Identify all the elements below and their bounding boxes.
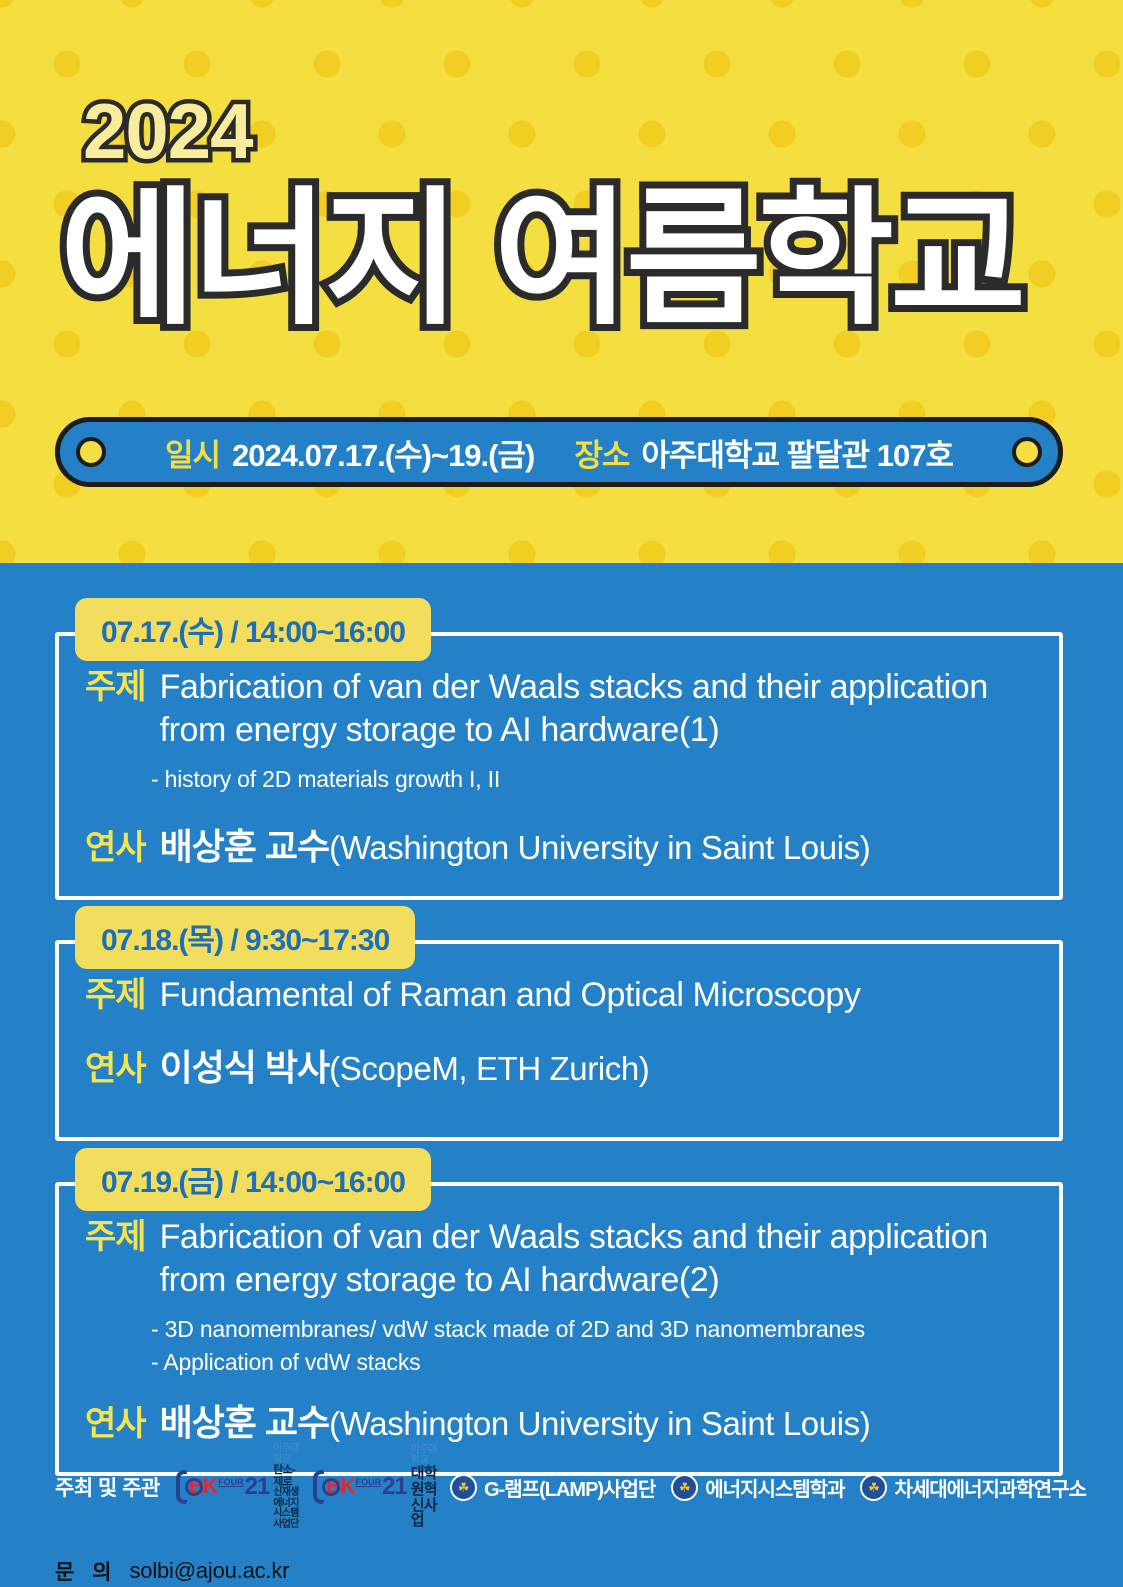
bk21-four-text: FOUR bbox=[218, 1478, 244, 1487]
topic-label: 주제 bbox=[85, 1216, 146, 1259]
host-label: 주최 및 주관 bbox=[55, 1472, 160, 1502]
speaker-row: 연사 배상훈 교수 (Washington University in Sain… bbox=[85, 818, 1033, 870]
org-lamp: ☘ G-램프(LAMP)사업단 bbox=[450, 1473, 655, 1502]
topic-text: Fundamental of Raman and Optical Microsc… bbox=[160, 974, 861, 1017]
bk21-head-icon bbox=[313, 1470, 325, 1504]
topic-row: 주제 Fabrication of van der Waals stacks a… bbox=[85, 666, 1033, 751]
bk21-line2: 대학원혁신사업 bbox=[411, 1466, 440, 1529]
footer: 주최 및 주관 BK FOUR 21 아주대학교 탄소-제로 신재생에너지시스템… bbox=[55, 1444, 1085, 1586]
bk21-univ: 아주대학교 bbox=[273, 1444, 302, 1465]
speaker-label: 연사 bbox=[85, 1403, 146, 1446]
contact-label: 문 의 bbox=[55, 1556, 117, 1586]
contact-row: 문 의 solbi@ajou.ac.kr bbox=[55, 1556, 1085, 1586]
ajou-emblem-icon: ☘ bbox=[860, 1474, 887, 1501]
bk21-four-text: FOUR bbox=[356, 1478, 382, 1487]
place-value: 아주대학교 팔달관 107호 bbox=[641, 430, 953, 475]
speaker-affiliation: (Washington University in Saint Louis) bbox=[329, 829, 870, 867]
speaker-row: 연사 배상훈 교수 (Washington University in Sain… bbox=[85, 1394, 1033, 1446]
speaker-label: 연사 bbox=[85, 1048, 146, 1091]
session-panel: 주제 Fundamental of Raman and Optical Micr… bbox=[55, 940, 1063, 1141]
session-panel: 주제 Fabrication of van der Waals stacks a… bbox=[55, 632, 1063, 900]
date-place-banner: 일시 2024.07.17.(수)~19.(금) 장소 아주대학교 팔달관 10… bbox=[55, 417, 1063, 487]
speaker-name: 배상훈 교수 bbox=[160, 1394, 330, 1446]
page-title: 에너지 여름학교 bbox=[60, 180, 1022, 340]
bk21-line3: 신재생에너지시스템사업단 bbox=[273, 1488, 302, 1530]
poster-root: 2024 에너지 여름학교 일시 2024.07.17.(수)~19.(금) 장… bbox=[0, 0, 1123, 1587]
org-next-gen-energy: ☘ 차세대에너지과학연구소 bbox=[860, 1473, 1085, 1502]
topic-bullets: - history of 2D materials growth I, II bbox=[151, 763, 1033, 796]
org-name: G-램프(LAMP)사업단 bbox=[484, 1473, 655, 1502]
speaker-name: 이성식 박사 bbox=[160, 1039, 330, 1091]
speaker-label: 연사 bbox=[85, 827, 146, 870]
session-date-tag: 07.17.(수) / 14:00~16:00 bbox=[75, 598, 431, 661]
date-label: 일시 bbox=[165, 430, 220, 475]
topic-label: 주제 bbox=[85, 974, 146, 1017]
bk21-caption-1: 아주대학교 탄소-제로 신재생에너지시스템사업단 bbox=[273, 1444, 302, 1530]
bullet-item: - history of 2D materials growth I, II bbox=[151, 763, 1033, 796]
speaker-affiliation: (ScopeM, ETH Zurich) bbox=[329, 1050, 649, 1088]
org-name: 에너지시스템학과 bbox=[705, 1473, 844, 1502]
bk21-logo-2: BK FOUR 21 아주대학교 대학원혁신사업 bbox=[313, 1445, 441, 1529]
bk21-num-text: 21 bbox=[382, 1473, 407, 1501]
org-name: 차세대에너지과학연구소 bbox=[894, 1473, 1085, 1502]
topic-text: Fabrication of van der Waals stacks and … bbox=[160, 1216, 1033, 1301]
contact-email[interactable]: solbi@ajou.ac.kr bbox=[129, 1558, 289, 1584]
bk21-univ: 아주대학교 bbox=[411, 1445, 440, 1466]
topic-text: Fabrication of van der Waals stacks and … bbox=[160, 666, 1033, 751]
ajou-emblem-icon: ☘ bbox=[671, 1474, 698, 1501]
speaker-name: 배상훈 교수 bbox=[160, 818, 330, 870]
session-date-tag: 07.19.(금) / 14:00~16:00 bbox=[75, 1148, 431, 1211]
org-energy-systems: ☘ 에너지시스템학과 bbox=[671, 1473, 844, 1502]
bullet-dot-icon bbox=[1012, 437, 1042, 467]
bk21-line2: 탄소-제로 bbox=[273, 1465, 302, 1488]
bk21-num-text: 21 bbox=[245, 1473, 270, 1501]
bk21-caption-2: 아주대학교 대학원혁신사업 bbox=[411, 1445, 440, 1529]
session-date-tag: 07.18.(목) / 9:30~17:30 bbox=[75, 906, 415, 969]
ajou-emblem-icon: ☘ bbox=[450, 1474, 477, 1501]
banner-content: 일시 2024.07.17.(수)~19.(금) 장소 아주대학교 팔달관 10… bbox=[106, 430, 1012, 475]
bk21-head-icon bbox=[176, 1470, 187, 1504]
speaker-affiliation: (Washington University in Saint Louis) bbox=[329, 1405, 870, 1443]
bk21-logo-1: BK FOUR 21 아주대학교 탄소-제로 신재생에너지시스템사업단 bbox=[176, 1444, 303, 1530]
session-panel: 주제 Fabrication of van der Waals stacks a… bbox=[55, 1182, 1063, 1476]
topic-bullets: - 3D nanomembranes/ vdW stack made of 2D… bbox=[151, 1313, 1033, 1380]
speaker-row: 연사 이성식 박사 (ScopeM, ETH Zurich) bbox=[85, 1039, 1033, 1091]
bullet-dot-icon bbox=[76, 437, 106, 467]
host-row: 주최 및 주관 BK FOUR 21 아주대학교 탄소-제로 신재생에너지시스템… bbox=[55, 1444, 1085, 1530]
bullet-item: - Application of vdW stacks bbox=[151, 1346, 1033, 1379]
topic-row: 주제 Fundamental of Raman and Optical Micr… bbox=[85, 974, 1033, 1017]
date-value: 2024.07.17.(수)~19.(금) bbox=[232, 430, 534, 475]
bullet-item: - 3D nanomembranes/ vdW stack made of 2D… bbox=[151, 1313, 1033, 1346]
topic-label: 주제 bbox=[85, 666, 146, 709]
topic-row: 주제 Fabrication of van der Waals stacks a… bbox=[85, 1216, 1033, 1301]
year-heading: 2024 bbox=[83, 92, 253, 170]
place-label: 장소 bbox=[574, 430, 629, 475]
